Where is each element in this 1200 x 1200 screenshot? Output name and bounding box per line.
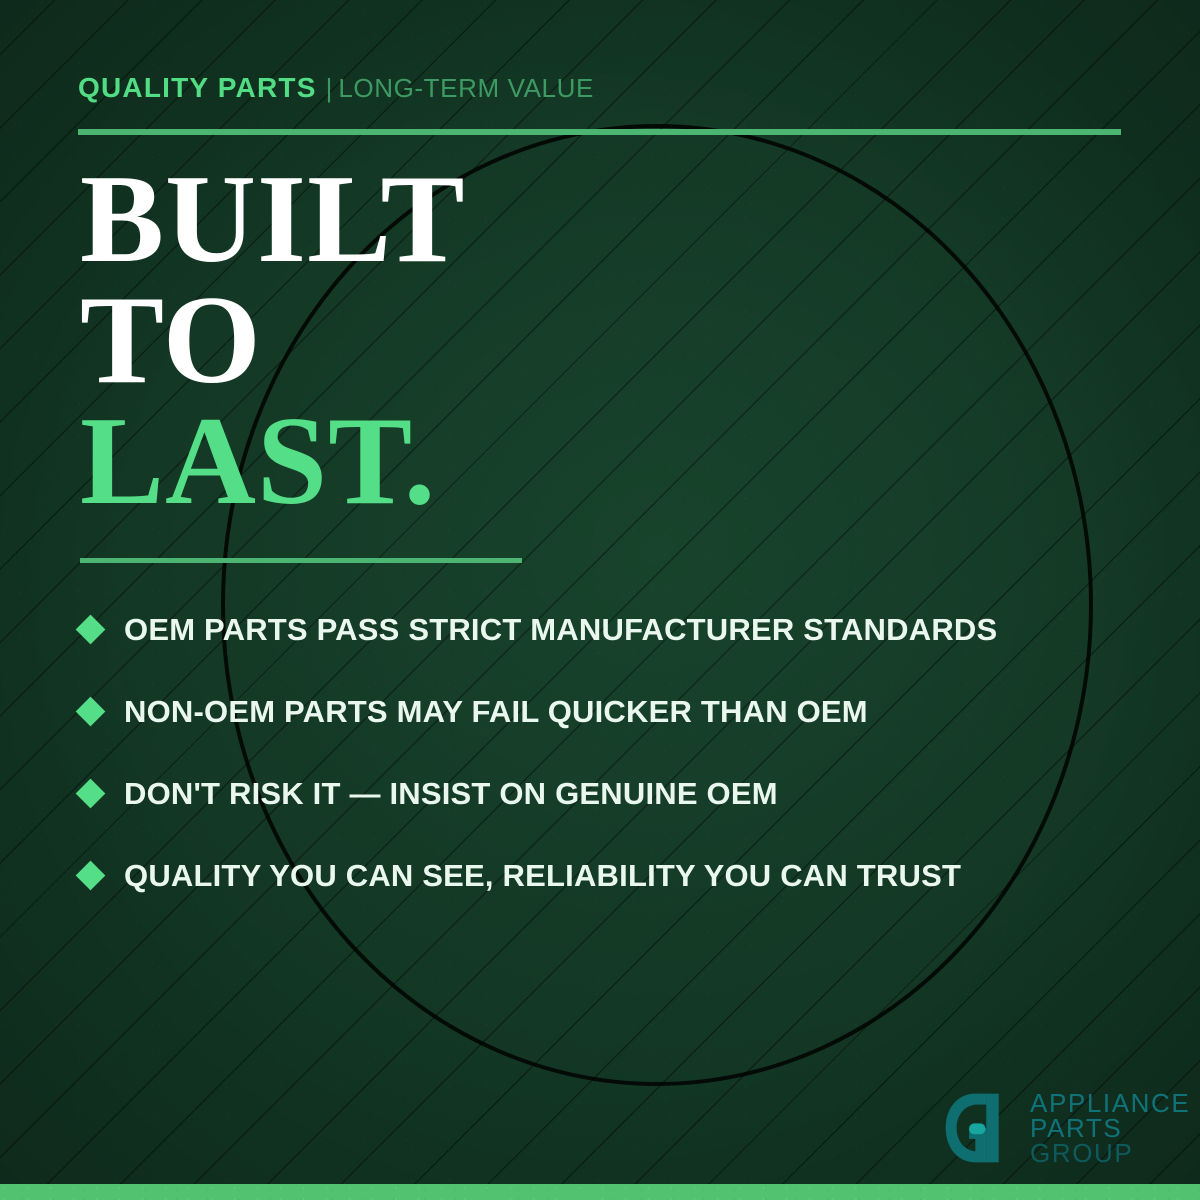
benefit-list: OEM PARTS PASS STRICT MANUFACTURER STAND… (80, 588, 1150, 916)
diamond-bullet-icon (76, 860, 106, 890)
diamond-bullet-icon (76, 614, 106, 644)
list-item: DON'T RISK IT — INSIST ON GENUINE OEM (80, 752, 1150, 834)
list-item: OEM PARTS PASS STRICT MANUFACTURER STAND… (80, 588, 1150, 670)
brand-logo: APPLIANCE PARTS GROUP (941, 1089, 1190, 1167)
list-item: QUALITY YOU CAN SEE, RELIABILITY YOU CAN… (80, 834, 1150, 916)
poster-canvas: QUALITY PARTS|LONG-TERM VALUE BUILT TO L… (0, 0, 1200, 1200)
headline-divider-rule (80, 558, 522, 563)
list-item-label: DON'T RISK IT — INSIST ON GENUINE OEM (124, 778, 778, 809)
kicker-separator: | (326, 73, 333, 103)
diamond-bullet-icon (76, 696, 106, 726)
page-title: BUILT TO LAST. (80, 160, 466, 523)
bottom-bar-texture (0, 1184, 1200, 1200)
diamond-bullet-icon (76, 778, 106, 808)
headline-line-1: BUILT (80, 160, 466, 281)
list-item: NON-OEM PARTS MAY FAIL QUICKER THAN OEM (80, 670, 1150, 752)
list-item-label: QUALITY YOU CAN SEE, RELIABILITY YOU CAN… (124, 860, 961, 891)
logo-line-group: GROUP (1030, 1141, 1190, 1166)
kicker-strong-text: QUALITY PARTS (78, 72, 317, 103)
g-monogram-icon (941, 1089, 1019, 1167)
brand-logo-wordmark: APPLIANCE PARTS GROUP (1030, 1089, 1190, 1166)
headline-line-2: TO (80, 281, 466, 402)
header-divider-rule (78, 129, 1121, 135)
poster-content: QUALITY PARTS|LONG-TERM VALUE BUILT TO L… (0, 0, 1200, 1200)
list-item-label: OEM PARTS PASS STRICT MANUFACTURER STAND… (124, 614, 997, 645)
kicker-light-text: LONG-TERM VALUE (338, 73, 594, 103)
kicker-eyebrow: QUALITY PARTS|LONG-TERM VALUE (78, 74, 594, 102)
bottom-accent-bar (0, 1184, 1200, 1200)
headline-line-3: LAST. (80, 402, 466, 523)
list-item-label: NON-OEM PARTS MAY FAIL QUICKER THAN OEM (124, 696, 868, 727)
